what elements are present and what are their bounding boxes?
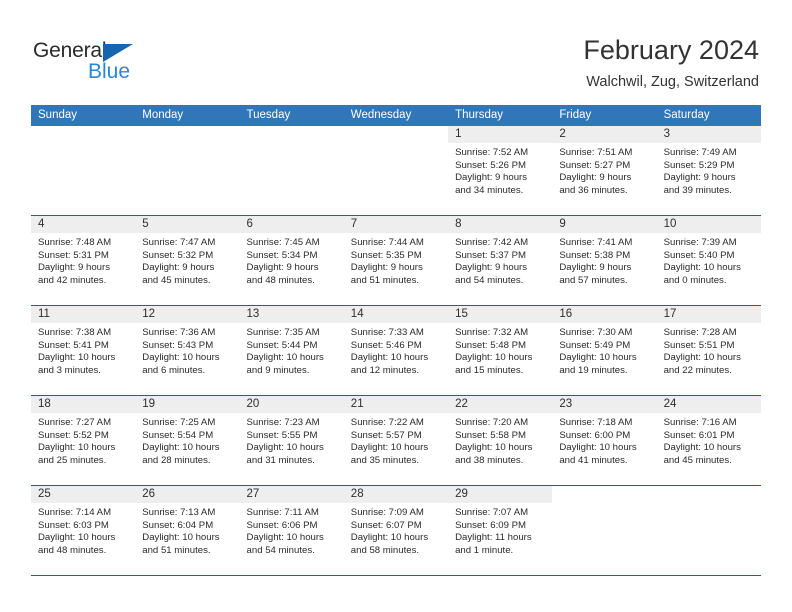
day-number: 19	[135, 396, 239, 413]
day-number: 26	[135, 486, 239, 503]
calendar-day-cell[interactable]: 6Sunrise: 7:45 AMSunset: 5:34 PMDaylight…	[240, 216, 344, 305]
day-number	[552, 486, 656, 503]
sunset-time: Sunset: 6:00 PM	[559, 430, 650, 443]
calendar-day-cell[interactable]: 7Sunrise: 7:44 AMSunset: 5:35 PMDaylight…	[344, 216, 448, 305]
daylight-duration-line2: and 57 minutes.	[559, 275, 650, 288]
day-details: Sunrise: 7:45 AMSunset: 5:34 PMDaylight:…	[240, 233, 344, 287]
calendar-day-cell[interactable]: 15Sunrise: 7:32 AMSunset: 5:48 PMDayligh…	[448, 306, 552, 395]
daylight-duration-line1: Daylight: 9 hours	[351, 262, 442, 275]
daylight-duration-line2: and 0 minutes.	[664, 275, 755, 288]
daylight-duration-line2: and 35 minutes.	[351, 455, 442, 468]
weekday-header-saturday: Saturday	[657, 105, 761, 126]
sunset-time: Sunset: 6:01 PM	[664, 430, 755, 443]
weekday-header-thursday: Thursday	[448, 105, 552, 126]
daylight-duration-line1: Daylight: 10 hours	[559, 352, 650, 365]
day-number: 15	[448, 306, 552, 323]
day-details: Sunrise: 7:30 AMSunset: 5:49 PMDaylight:…	[552, 323, 656, 377]
day-number	[240, 126, 344, 143]
daylight-duration-line1: Daylight: 10 hours	[142, 352, 233, 365]
title-block: February 2024 Walchwil, Zug, Switzerland	[583, 34, 759, 93]
sunset-time: Sunset: 5:41 PM	[38, 340, 129, 353]
day-details: Sunrise: 7:38 AMSunset: 5:41 PMDaylight:…	[31, 323, 135, 377]
sunrise-time: Sunrise: 7:44 AM	[351, 237, 442, 250]
sunrise-time: Sunrise: 7:42 AM	[455, 237, 546, 250]
day-details: Sunrise: 7:39 AMSunset: 5:40 PMDaylight:…	[657, 233, 761, 287]
sunset-time: Sunset: 6:07 PM	[351, 520, 442, 533]
daylight-duration-line2: and 48 minutes.	[38, 545, 129, 558]
day-number: 14	[344, 306, 448, 323]
daylight-duration-line1: Daylight: 9 hours	[455, 172, 546, 185]
daylight-duration-line2: and 3 minutes.	[38, 365, 129, 378]
sunrise-time: Sunrise: 7:11 AM	[247, 507, 338, 520]
sunset-time: Sunset: 5:51 PM	[664, 340, 755, 353]
weekday-header-monday: Monday	[135, 105, 239, 126]
day-number: 11	[31, 306, 135, 323]
calendar-grid: Sunday Monday Tuesday Wednesday Thursday…	[31, 105, 761, 576]
daylight-duration-line1: Daylight: 10 hours	[38, 352, 129, 365]
calendar-day-cell[interactable]: 18Sunrise: 7:27 AMSunset: 5:52 PMDayligh…	[31, 396, 135, 485]
sunrise-time: Sunrise: 7:23 AM	[247, 417, 338, 430]
calendar-day-cell-empty	[657, 486, 761, 575]
sunset-time: Sunset: 5:49 PM	[559, 340, 650, 353]
calendar-day-cell[interactable]: 23Sunrise: 7:18 AMSunset: 6:00 PMDayligh…	[552, 396, 656, 485]
weekday-header-sunday: Sunday	[31, 105, 135, 126]
daylight-duration-line2: and 39 minutes.	[664, 185, 755, 198]
day-details: Sunrise: 7:44 AMSunset: 5:35 PMDaylight:…	[344, 233, 448, 287]
daylight-duration-line1: Daylight: 9 hours	[455, 262, 546, 275]
daylight-duration-line2: and 9 minutes.	[247, 365, 338, 378]
sunrise-time: Sunrise: 7:13 AM	[142, 507, 233, 520]
calendar-day-cell[interactable]: 19Sunrise: 7:25 AMSunset: 5:54 PMDayligh…	[135, 396, 239, 485]
sunrise-time: Sunrise: 7:35 AM	[247, 327, 338, 340]
day-number: 18	[31, 396, 135, 413]
daylight-duration-line2: and 42 minutes.	[38, 275, 129, 288]
daylight-duration-line2: and 51 minutes.	[351, 275, 442, 288]
day-number: 13	[240, 306, 344, 323]
day-details: Sunrise: 7:42 AMSunset: 5:37 PMDaylight:…	[448, 233, 552, 287]
day-number: 7	[344, 216, 448, 233]
daylight-duration-line2: and 58 minutes.	[351, 545, 442, 558]
calendar-day-cell[interactable]: 17Sunrise: 7:28 AMSunset: 5:51 PMDayligh…	[657, 306, 761, 395]
sunset-time: Sunset: 5:58 PM	[455, 430, 546, 443]
calendar-day-cell[interactable]: 22Sunrise: 7:20 AMSunset: 5:58 PMDayligh…	[448, 396, 552, 485]
sunset-time: Sunset: 5:46 PM	[351, 340, 442, 353]
sunset-time: Sunset: 5:27 PM	[559, 160, 650, 173]
calendar-week-row: 4Sunrise: 7:48 AMSunset: 5:31 PMDaylight…	[31, 215, 761, 305]
daylight-duration-line2: and 31 minutes.	[247, 455, 338, 468]
weekday-header-friday: Friday	[552, 105, 656, 126]
calendar-day-cell[interactable]: 25Sunrise: 7:14 AMSunset: 6:03 PMDayligh…	[31, 486, 135, 575]
logo-text-blue: Blue	[88, 59, 130, 85]
sunset-time: Sunset: 5:48 PM	[455, 340, 546, 353]
day-number: 20	[240, 396, 344, 413]
sunrise-time: Sunrise: 7:33 AM	[351, 327, 442, 340]
daylight-duration-line2: and 34 minutes.	[455, 185, 546, 198]
day-details: Sunrise: 7:41 AMSunset: 5:38 PMDaylight:…	[552, 233, 656, 287]
day-number: 29	[448, 486, 552, 503]
calendar-day-cell[interactable]: 29Sunrise: 7:07 AMSunset: 6:09 PMDayligh…	[448, 486, 552, 575]
day-details: Sunrise: 7:25 AMSunset: 5:54 PMDaylight:…	[135, 413, 239, 467]
day-number: 22	[448, 396, 552, 413]
calendar-day-cell[interactable]: 20Sunrise: 7:23 AMSunset: 5:55 PMDayligh…	[240, 396, 344, 485]
calendar-day-cell[interactable]: 12Sunrise: 7:36 AMSunset: 5:43 PMDayligh…	[135, 306, 239, 395]
calendar-day-cell[interactable]: 27Sunrise: 7:11 AMSunset: 6:06 PMDayligh…	[240, 486, 344, 575]
day-details: Sunrise: 7:28 AMSunset: 5:51 PMDaylight:…	[657, 323, 761, 377]
day-details: Sunrise: 7:14 AMSunset: 6:03 PMDaylight:…	[31, 503, 135, 557]
daylight-duration-line1: Daylight: 10 hours	[559, 442, 650, 455]
day-details: Sunrise: 7:35 AMSunset: 5:44 PMDaylight:…	[240, 323, 344, 377]
sunset-time: Sunset: 5:43 PM	[142, 340, 233, 353]
daylight-duration-line1: Daylight: 10 hours	[455, 352, 546, 365]
sunset-time: Sunset: 5:44 PM	[247, 340, 338, 353]
calendar-day-cell[interactable]: 3Sunrise: 7:49 AMSunset: 5:29 PMDaylight…	[657, 126, 761, 215]
daylight-duration-line2: and 15 minutes.	[455, 365, 546, 378]
day-number: 25	[31, 486, 135, 503]
day-number: 27	[240, 486, 344, 503]
sunrise-time: Sunrise: 7:16 AM	[664, 417, 755, 430]
day-details: Sunrise: 7:36 AMSunset: 5:43 PMDaylight:…	[135, 323, 239, 377]
sunrise-time: Sunrise: 7:52 AM	[455, 147, 546, 160]
day-number: 8	[448, 216, 552, 233]
day-number: 9	[552, 216, 656, 233]
day-number: 17	[657, 306, 761, 323]
day-details: Sunrise: 7:33 AMSunset: 5:46 PMDaylight:…	[344, 323, 448, 377]
sunset-time: Sunset: 5:55 PM	[247, 430, 338, 443]
daylight-duration-line1: Daylight: 10 hours	[455, 442, 546, 455]
calendar-day-cell[interactable]: 9Sunrise: 7:41 AMSunset: 5:38 PMDaylight…	[552, 216, 656, 305]
daylight-duration-line1: Daylight: 9 hours	[38, 262, 129, 275]
day-details: Sunrise: 7:20 AMSunset: 5:58 PMDaylight:…	[448, 413, 552, 467]
daylight-duration-line2: and 38 minutes.	[455, 455, 546, 468]
calendar-day-cell[interactable]: 10Sunrise: 7:39 AMSunset: 5:40 PMDayligh…	[657, 216, 761, 305]
daylight-duration-line2: and 54 minutes.	[455, 275, 546, 288]
sunrise-time: Sunrise: 7:25 AM	[142, 417, 233, 430]
calendar-day-cell[interactable]: 1Sunrise: 7:52 AMSunset: 5:26 PMDaylight…	[448, 126, 552, 215]
sunrise-time: Sunrise: 7:39 AM	[664, 237, 755, 250]
day-details: Sunrise: 7:52 AMSunset: 5:26 PMDaylight:…	[448, 143, 552, 197]
daylight-duration-line2: and 48 minutes.	[247, 275, 338, 288]
calendar-day-cell[interactable]: 11Sunrise: 7:38 AMSunset: 5:41 PMDayligh…	[31, 306, 135, 395]
calendar-day-cell-empty	[135, 126, 239, 215]
daylight-duration-line1: Daylight: 10 hours	[38, 532, 129, 545]
sunrise-time: Sunrise: 7:45 AM	[247, 237, 338, 250]
sunrise-time: Sunrise: 7:14 AM	[38, 507, 129, 520]
day-details: Sunrise: 7:18 AMSunset: 6:00 PMDaylight:…	[552, 413, 656, 467]
general-blue-logo[interactable]: General Blue	[33, 38, 163, 88]
sunset-time: Sunset: 5:37 PM	[455, 250, 546, 263]
day-details: Sunrise: 7:13 AMSunset: 6:04 PMDaylight:…	[135, 503, 239, 557]
sunset-time: Sunset: 5:32 PM	[142, 250, 233, 263]
sunset-time: Sunset: 5:40 PM	[664, 250, 755, 263]
daylight-duration-line1: Daylight: 10 hours	[351, 352, 442, 365]
day-number: 1	[448, 126, 552, 143]
daylight-duration-line1: Daylight: 9 hours	[142, 262, 233, 275]
daylight-duration-line2: and 19 minutes.	[559, 365, 650, 378]
day-number	[344, 126, 448, 143]
calendar-day-cell[interactable]: 8Sunrise: 7:42 AMSunset: 5:37 PMDaylight…	[448, 216, 552, 305]
calendar-weeks: 1Sunrise: 7:52 AMSunset: 5:26 PMDaylight…	[31, 126, 761, 575]
day-number: 2	[552, 126, 656, 143]
calendar-day-cell-empty	[240, 126, 344, 215]
sunrise-time: Sunrise: 7:41 AM	[559, 237, 650, 250]
sunset-time: Sunset: 5:38 PM	[559, 250, 650, 263]
sunrise-time: Sunrise: 7:28 AM	[664, 327, 755, 340]
daylight-duration-line2: and 1 minute.	[455, 545, 546, 558]
daylight-duration-line2: and 36 minutes.	[559, 185, 650, 198]
day-details: Sunrise: 7:32 AMSunset: 5:48 PMDaylight:…	[448, 323, 552, 377]
daylight-duration-line2: and 6 minutes.	[142, 365, 233, 378]
sunset-time: Sunset: 5:34 PM	[247, 250, 338, 263]
day-details: Sunrise: 7:51 AMSunset: 5:27 PMDaylight:…	[552, 143, 656, 197]
calendar-bottom-rule	[31, 575, 761, 576]
sunset-time: Sunset: 5:52 PM	[38, 430, 129, 443]
daylight-duration-line2: and 12 minutes.	[351, 365, 442, 378]
weekday-header-tuesday: Tuesday	[240, 105, 344, 126]
daylight-duration-line1: Daylight: 10 hours	[247, 352, 338, 365]
calendar-day-cell[interactable]: 28Sunrise: 7:09 AMSunset: 6:07 PMDayligh…	[344, 486, 448, 575]
day-details: Sunrise: 7:16 AMSunset: 6:01 PMDaylight:…	[657, 413, 761, 467]
calendar-day-cell-empty	[344, 126, 448, 215]
sunrise-time: Sunrise: 7:27 AM	[38, 417, 129, 430]
day-details: Sunrise: 7:23 AMSunset: 5:55 PMDaylight:…	[240, 413, 344, 467]
daylight-duration-line1: Daylight: 10 hours	[247, 442, 338, 455]
sunset-time: Sunset: 6:09 PM	[455, 520, 546, 533]
sunset-time: Sunset: 6:04 PM	[142, 520, 233, 533]
calendar-day-cell[interactable]: 5Sunrise: 7:47 AMSunset: 5:32 PMDaylight…	[135, 216, 239, 305]
calendar-day-cell[interactable]: 16Sunrise: 7:30 AMSunset: 5:49 PMDayligh…	[552, 306, 656, 395]
daylight-duration-line1: Daylight: 11 hours	[455, 532, 546, 545]
daylight-duration-line2: and 22 minutes.	[664, 365, 755, 378]
day-details: Sunrise: 7:22 AMSunset: 5:57 PMDaylight:…	[344, 413, 448, 467]
sunrise-time: Sunrise: 7:47 AM	[142, 237, 233, 250]
daylight-duration-line1: Daylight: 10 hours	[38, 442, 129, 455]
sunrise-time: Sunrise: 7:51 AM	[559, 147, 650, 160]
day-details: Sunrise: 7:27 AMSunset: 5:52 PMDaylight:…	[31, 413, 135, 467]
day-details: Sunrise: 7:07 AMSunset: 6:09 PMDaylight:…	[448, 503, 552, 557]
daylight-duration-line1: Daylight: 10 hours	[664, 352, 755, 365]
daylight-duration-line1: Daylight: 10 hours	[142, 442, 233, 455]
day-number: 28	[344, 486, 448, 503]
day-number: 5	[135, 216, 239, 233]
day-details: Sunrise: 7:48 AMSunset: 5:31 PMDaylight:…	[31, 233, 135, 287]
sunset-time: Sunset: 5:57 PM	[351, 430, 442, 443]
daylight-duration-line1: Daylight: 10 hours	[247, 532, 338, 545]
day-number	[657, 486, 761, 503]
day-number	[31, 126, 135, 143]
daylight-duration-line1: Daylight: 10 hours	[351, 442, 442, 455]
sunset-time: Sunset: 6:03 PM	[38, 520, 129, 533]
sunset-time: Sunset: 5:35 PM	[351, 250, 442, 263]
daylight-duration-line2: and 45 minutes.	[664, 455, 755, 468]
daylight-duration-line1: Daylight: 10 hours	[664, 442, 755, 455]
calendar-day-cell[interactable]: 14Sunrise: 7:33 AMSunset: 5:46 PMDayligh…	[344, 306, 448, 395]
sunset-time: Sunset: 6:06 PM	[247, 520, 338, 533]
day-number: 23	[552, 396, 656, 413]
sunset-time: Sunset: 5:31 PM	[38, 250, 129, 263]
weekday-header-wednesday: Wednesday	[344, 105, 448, 126]
daylight-duration-line2: and 51 minutes.	[142, 545, 233, 558]
day-details: Sunrise: 7:09 AMSunset: 6:07 PMDaylight:…	[344, 503, 448, 557]
calendar-week-row: 1Sunrise: 7:52 AMSunset: 5:26 PMDaylight…	[31, 126, 761, 215]
day-number: 21	[344, 396, 448, 413]
daylight-duration-line1: Daylight: 10 hours	[664, 262, 755, 275]
sunrise-time: Sunrise: 7:38 AM	[38, 327, 129, 340]
sunrise-time: Sunrise: 7:36 AM	[142, 327, 233, 340]
day-details: Sunrise: 7:11 AMSunset: 6:06 PMDaylight:…	[240, 503, 344, 557]
daylight-duration-line2: and 25 minutes.	[38, 455, 129, 468]
weekday-header-row: Sunday Monday Tuesday Wednesday Thursday…	[31, 105, 761, 126]
day-details: Sunrise: 7:47 AMSunset: 5:32 PMDaylight:…	[135, 233, 239, 287]
day-number: 24	[657, 396, 761, 413]
daylight-duration-line1: Daylight: 9 hours	[559, 262, 650, 275]
sunset-time: Sunset: 5:29 PM	[664, 160, 755, 173]
calendar-day-cell[interactable]: 4Sunrise: 7:48 AMSunset: 5:31 PMDaylight…	[31, 216, 135, 305]
calendar-day-cell[interactable]: 24Sunrise: 7:16 AMSunset: 6:01 PMDayligh…	[657, 396, 761, 485]
daylight-duration-line1: Daylight: 9 hours	[559, 172, 650, 185]
sunrise-time: Sunrise: 7:32 AM	[455, 327, 546, 340]
sunrise-time: Sunrise: 7:18 AM	[559, 417, 650, 430]
daylight-duration-line2: and 45 minutes.	[142, 275, 233, 288]
calendar-day-cell[interactable]: 21Sunrise: 7:22 AMSunset: 5:57 PMDayligh…	[344, 396, 448, 485]
day-number: 10	[657, 216, 761, 233]
day-details: Sunrise: 7:49 AMSunset: 5:29 PMDaylight:…	[657, 143, 761, 197]
calendar-week-row: 25Sunrise: 7:14 AMSunset: 6:03 PMDayligh…	[31, 485, 761, 575]
daylight-duration-line1: Daylight: 9 hours	[664, 172, 755, 185]
day-number: 3	[657, 126, 761, 143]
calendar-day-cell-empty	[552, 486, 656, 575]
day-number: 12	[135, 306, 239, 323]
daylight-duration-line1: Daylight: 10 hours	[142, 532, 233, 545]
calendar-page: General Blue February 2024 Walchwil, Zug…	[0, 0, 792, 612]
sunrise-time: Sunrise: 7:20 AM	[455, 417, 546, 430]
calendar-week-row: 18Sunrise: 7:27 AMSunset: 5:52 PMDayligh…	[31, 395, 761, 485]
day-number: 4	[31, 216, 135, 233]
day-number: 6	[240, 216, 344, 233]
daylight-duration-line2: and 54 minutes.	[247, 545, 338, 558]
daylight-duration-line2: and 41 minutes.	[559, 455, 650, 468]
calendar-day-cell[interactable]: 13Sunrise: 7:35 AMSunset: 5:44 PMDayligh…	[240, 306, 344, 395]
page-title: February 2024	[583, 34, 759, 66]
calendar-week-row: 11Sunrise: 7:38 AMSunset: 5:41 PMDayligh…	[31, 305, 761, 395]
calendar-day-cell-empty	[31, 126, 135, 215]
page-header: General Blue February 2024 Walchwil, Zug…	[0, 0, 792, 100]
calendar-day-cell[interactable]: 2Sunrise: 7:51 AMSunset: 5:27 PMDaylight…	[552, 126, 656, 215]
sunrise-time: Sunrise: 7:49 AM	[664, 147, 755, 160]
calendar-day-cell[interactable]: 26Sunrise: 7:13 AMSunset: 6:04 PMDayligh…	[135, 486, 239, 575]
day-number: 16	[552, 306, 656, 323]
sunset-time: Sunset: 5:54 PM	[142, 430, 233, 443]
daylight-duration-line2: and 28 minutes.	[142, 455, 233, 468]
sunset-time: Sunset: 5:26 PM	[455, 160, 546, 173]
sunrise-time: Sunrise: 7:22 AM	[351, 417, 442, 430]
sunrise-time: Sunrise: 7:09 AM	[351, 507, 442, 520]
sunrise-time: Sunrise: 7:48 AM	[38, 237, 129, 250]
daylight-duration-line1: Daylight: 10 hours	[351, 532, 442, 545]
daylight-duration-line1: Daylight: 9 hours	[247, 262, 338, 275]
sunrise-time: Sunrise: 7:30 AM	[559, 327, 650, 340]
location-subtitle: Walchwil, Zug, Switzerland	[583, 71, 759, 93]
day-number	[135, 126, 239, 143]
sunrise-time: Sunrise: 7:07 AM	[455, 507, 546, 520]
